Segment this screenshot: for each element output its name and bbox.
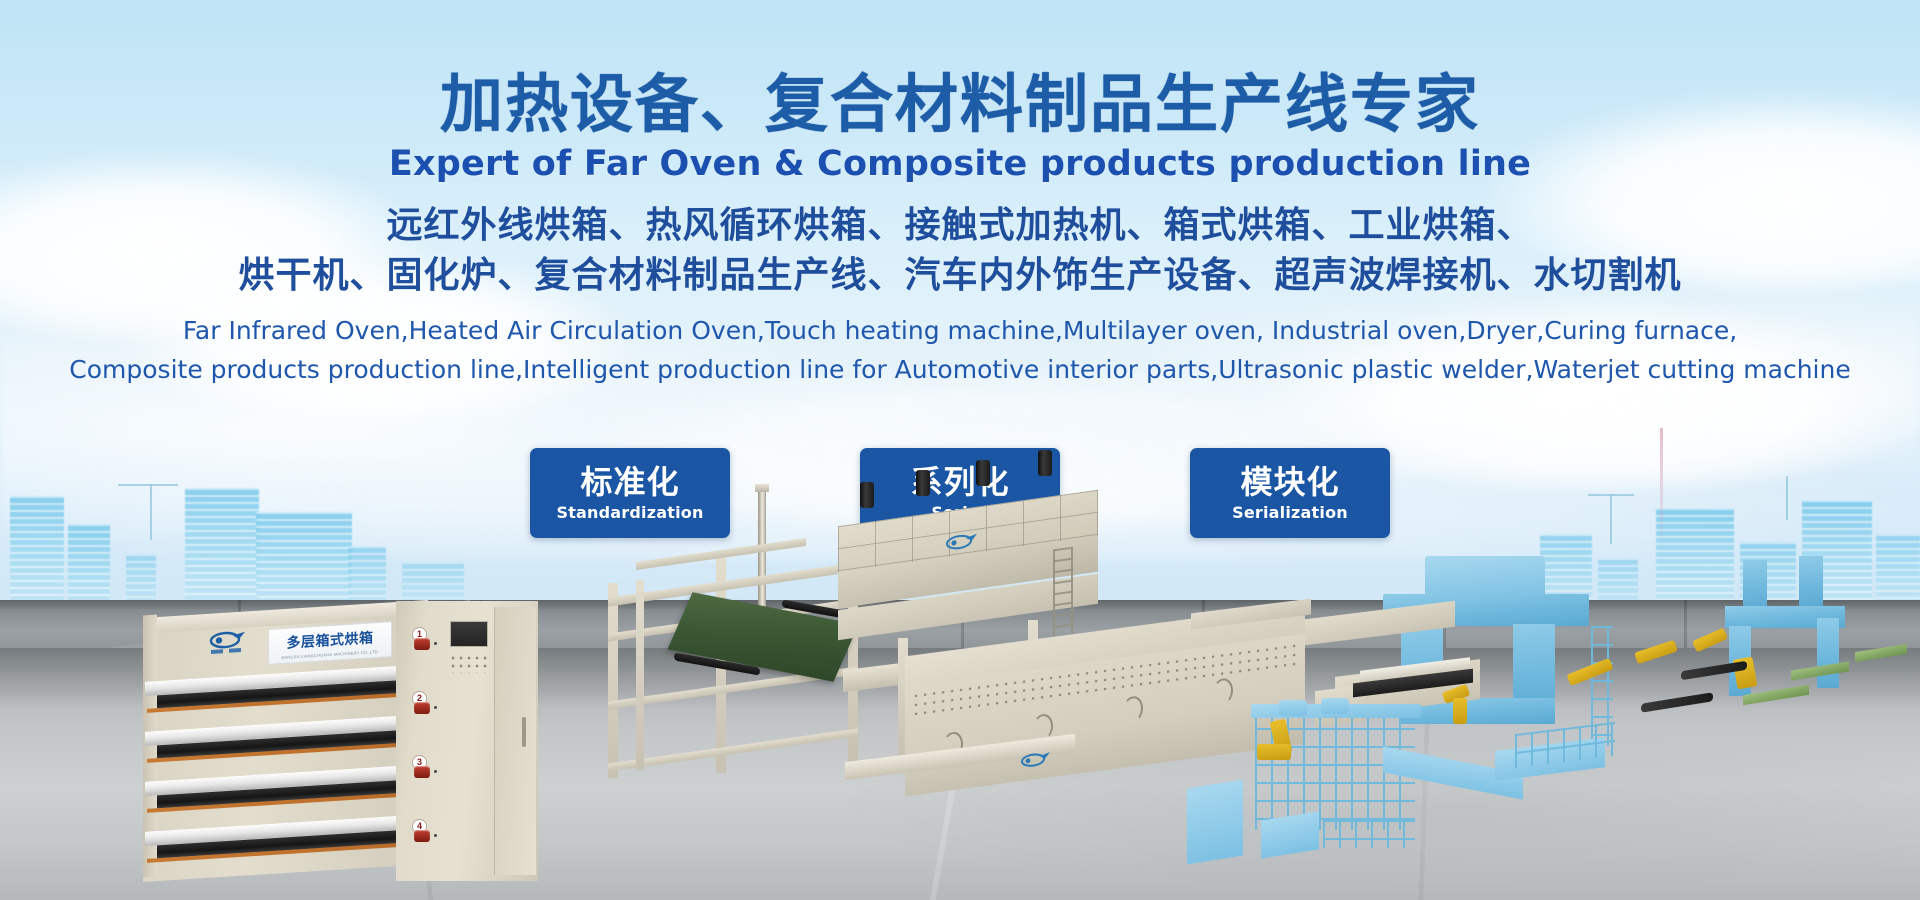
frame-hopper xyxy=(1279,700,1307,716)
pallet xyxy=(1855,644,1907,662)
pallet xyxy=(1743,685,1809,705)
control-display xyxy=(450,621,488,647)
machine-blue-production-line xyxy=(1195,548,1920,878)
nameplate-title-cn: 多层箱式烘箱 xyxy=(287,627,374,652)
indicator-lamp-3[interactable]: 3 xyxy=(412,755,440,781)
robot-base xyxy=(1257,744,1291,760)
indicator-lamp-2[interactable]: 2 xyxy=(412,691,440,717)
subtitle-cn-line1: 远红外线烘箱、热风循环烘箱、接触式加热机、箱式烘箱、工业烘箱、 xyxy=(0,201,1920,251)
press-head xyxy=(1425,556,1545,598)
storage-bin xyxy=(1187,780,1243,865)
gantry-column xyxy=(1743,560,1767,612)
subtitle-en-line2: Composite products production line,Intel… xyxy=(0,350,1920,389)
subtitle-cn-line2: 烘干机、固化炉、复合材料制品生产线、汽车内外饰生产设备、超声波焊接机、水切割机 xyxy=(0,251,1920,301)
mast-pole xyxy=(1660,428,1663,556)
chute xyxy=(1261,811,1319,858)
subtitle-en-line1: Far Infrared Oven,Heated Air Circulation… xyxy=(0,311,1920,350)
vent-holes-icon xyxy=(450,655,490,673)
page-title-en: Expert of Far Oven & Composite products … xyxy=(0,144,1920,184)
roller-table xyxy=(1323,820,1415,848)
frame-hopper xyxy=(1321,698,1349,714)
oven-roof xyxy=(1191,599,1311,630)
brand-logo-icon xyxy=(203,630,249,657)
hero-banner: 加热设备、复合材料制品生产线专家 Expert of Far Oven & Co… xyxy=(0,0,1920,900)
robot-arm xyxy=(1634,640,1678,664)
indicator-lamp-1[interactable]: 1 xyxy=(412,627,440,653)
badge-serialization[interactable]: 模块化 Serialization xyxy=(1190,448,1390,538)
indicator-lamp-4[interactable]: 4 xyxy=(412,819,440,845)
cabinet-handle[interactable] xyxy=(522,717,526,747)
gantry-column xyxy=(1799,556,1823,608)
robot-base xyxy=(1453,698,1467,724)
control-cabinet: 1 2 3 4 xyxy=(396,601,538,881)
headline-block: 加热设备、复合材料制品生产线专家 Expert of Far Oven & Co… xyxy=(0,0,1920,389)
page-title-cn: 加热设备、复合材料制品生产线专家 xyxy=(0,72,1920,138)
machine-multilayer-oven: 多层箱式烘箱 JIANGSU LIANGCHUANG MACHINERY CO.… xyxy=(143,615,538,900)
badge-label-en: Serialization xyxy=(1232,503,1348,522)
badge-label-cn: 模块化 xyxy=(1240,464,1339,500)
roller xyxy=(1641,692,1713,712)
gantry-leg xyxy=(1817,618,1839,688)
robot-arm xyxy=(1692,628,1728,653)
